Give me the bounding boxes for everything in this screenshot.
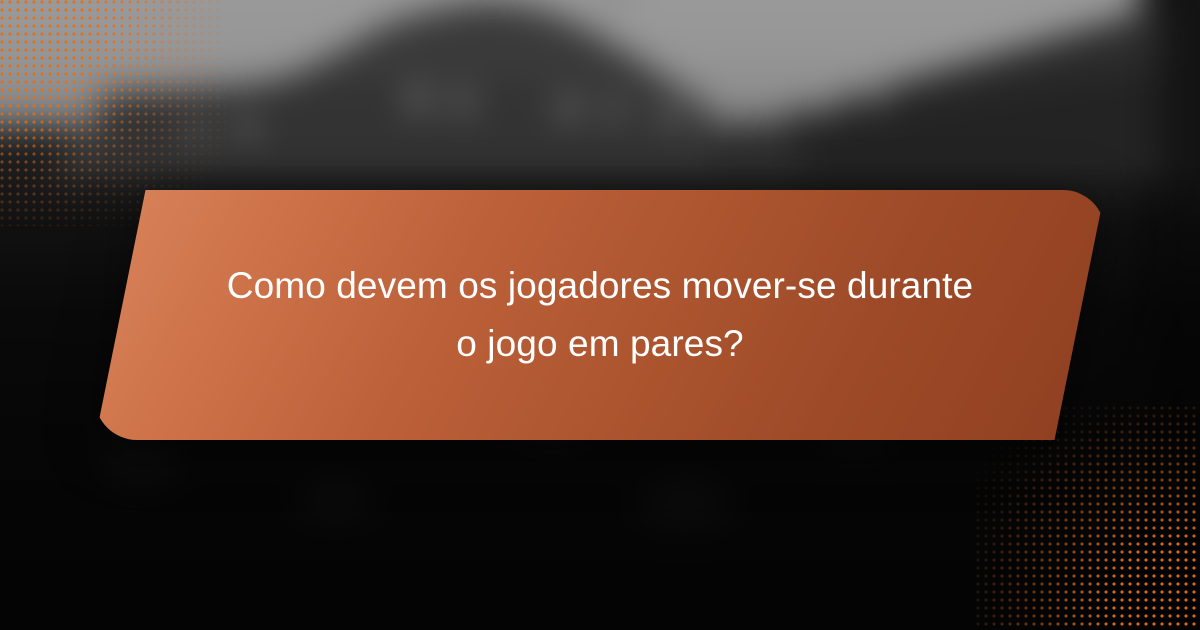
question-line-1: Como devem os jogadores mover-se durante	[227, 257, 973, 315]
question-text-block: Como devem os jogadores mover-se durante…	[95, 190, 1105, 440]
social-card-canvas: Como devem os jogadores mover-se durante…	[0, 0, 1200, 630]
question-line-2: o jogo em pares?	[456, 315, 744, 373]
question-card: Como devem os jogadores mover-se durante…	[95, 190, 1105, 440]
